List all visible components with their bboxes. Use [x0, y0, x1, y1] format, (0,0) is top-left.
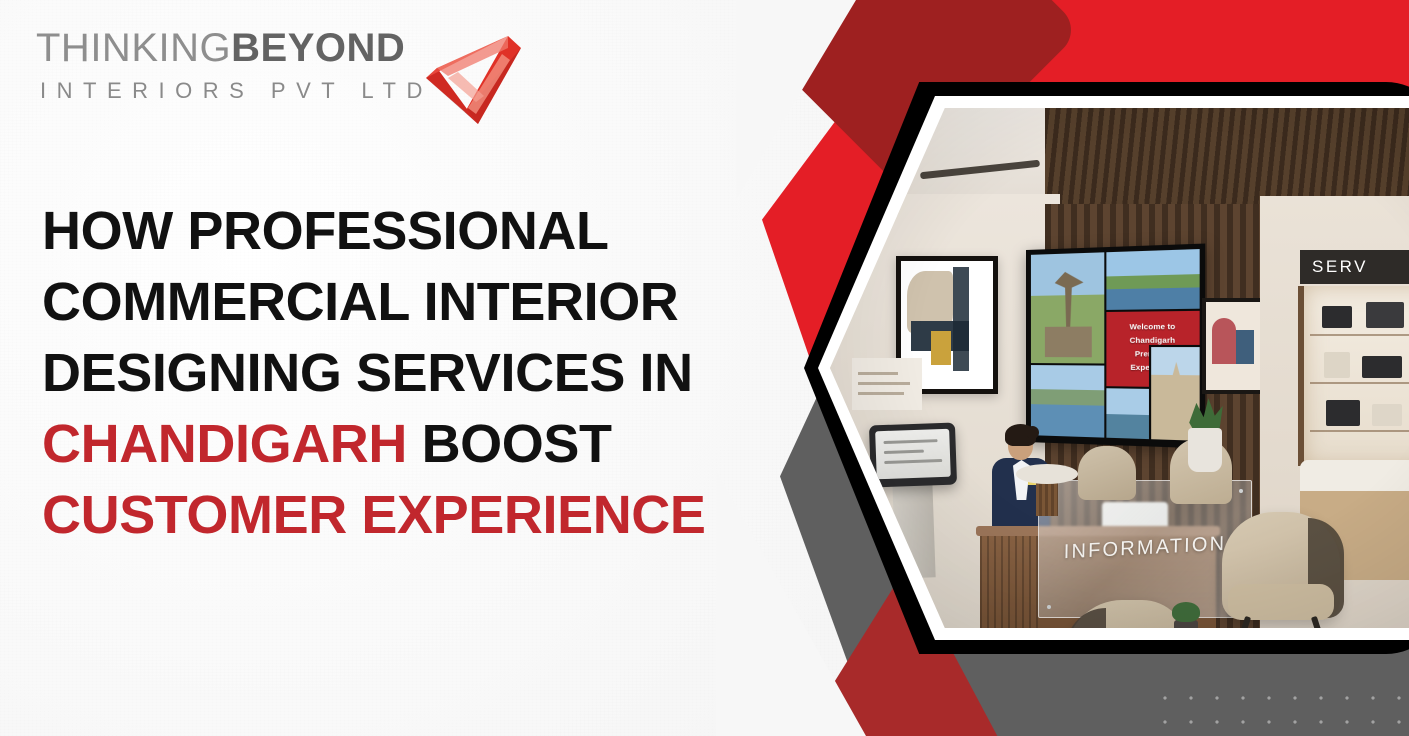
headline-line-4: CHANDIGARH BOOST [42, 409, 742, 480]
photo-vignette [830, 108, 1409, 628]
company-logo[interactable]: THINKINGBEYOND INTERIORS PVT LTD [36, 22, 506, 114]
headline-line-1: HOW PROFESSIONAL [42, 196, 742, 267]
logo-word-thinking: THINKING [36, 26, 231, 70]
logo-wordmark: THINKINGBEYOND [36, 28, 405, 68]
logo-word-beyond: BEYOND [231, 26, 405, 70]
dot-grid-pattern [1152, 686, 1402, 734]
headline-line-3: DESIGNING SERVICES IN [42, 338, 742, 409]
marketing-banner: Welcome to Chandigarh Premium Experience [0, 0, 1409, 736]
logo-subtitle: INTERIORS PVT LTD [40, 78, 433, 104]
photo-frame-outer: Welcome to Chandigarh Premium Experience [804, 82, 1409, 654]
headline-city-highlight: CHANDIGARH [42, 414, 407, 474]
headline-line-2: COMMERCIAL INTERIOR [42, 267, 742, 338]
photo-frame-white-border: Welcome to Chandigarh Premium Experience [818, 96, 1409, 640]
penrose-triangle-icon [418, 30, 528, 130]
headline-line-4-rest: BOOST [407, 414, 612, 474]
interior-photo: Welcome to Chandigarh Premium Experience [830, 108, 1409, 628]
page-title: HOW PROFESSIONAL COMMERCIAL INTERIOR DES… [42, 196, 742, 551]
headline-line-5: CUSTOMER EXPERIENCE [42, 480, 742, 551]
